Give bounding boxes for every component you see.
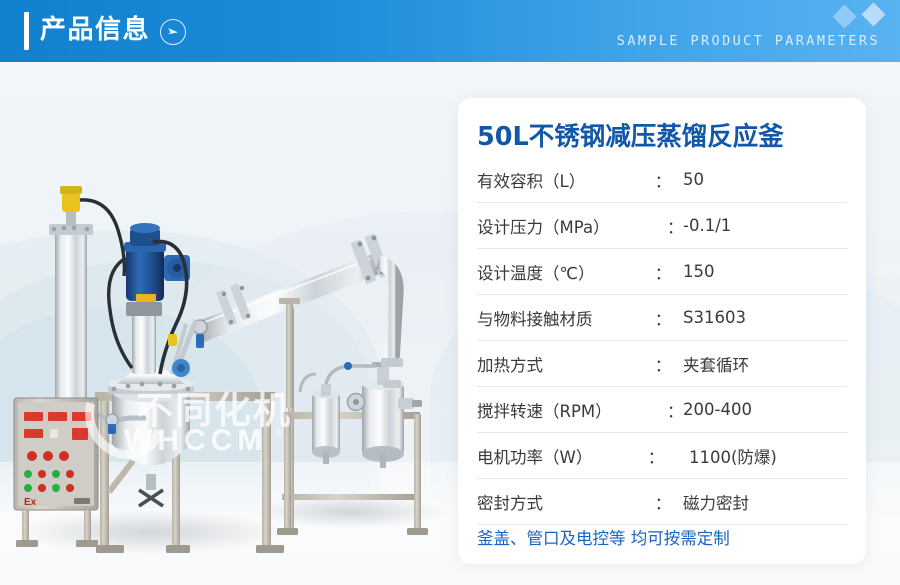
spec-table: 有效容积（L） ： 50 设计压力（MPa） ： -0.1/1 设计温度（℃） …	[477, 157, 847, 525]
diamond-decoration-right	[861, 2, 885, 26]
spec-value: 磁力密封	[675, 490, 847, 514]
table-row: 密封方式 ： 磁力密封	[477, 479, 847, 525]
spec-value: 50	[675, 170, 847, 189]
spec-colon: ：	[667, 398, 675, 422]
header-accent-bar	[24, 12, 29, 50]
spec-label: 与物料接触材质	[477, 306, 651, 330]
spec-label: 设计温度（℃）	[477, 260, 651, 284]
spec-label: 有效容积（L）	[477, 168, 651, 192]
spec-value: -0.1/1	[675, 216, 847, 235]
spec-colon: ：	[651, 490, 675, 514]
table-row: 设计温度（℃） ： 150	[477, 249, 847, 295]
table-row: 搅拌转速（RPM） ： 200-400	[477, 387, 847, 433]
spec-value: 200-400	[675, 400, 847, 419]
product-title: 50L不锈钢减压蒸馏反应釜	[477, 116, 784, 153]
reactor-equipment-illustration: Ex	[0, 62, 460, 585]
table-row: 加热方式 ： 夹套循环	[477, 341, 847, 387]
page-header: 产品信息 SAMPLE PRODUCT PARAMETERS	[0, 0, 900, 62]
table-row: 设计压力（MPa） ： -0.1/1	[477, 203, 847, 249]
table-row: 电机功率（W） ： 1100(防爆)	[477, 433, 847, 479]
spec-colon: ：	[651, 168, 675, 192]
spec-colon: ：	[651, 306, 675, 330]
spec-colon: ：	[651, 352, 675, 376]
customization-note: 釜盖、管口及电控等 均可按需定制	[477, 525, 730, 549]
spec-label: 设计压力（MPa）	[477, 214, 667, 238]
spec-label: 加热方式	[477, 352, 651, 376]
header-subtitle: SAMPLE PRODUCT PARAMETERS	[617, 33, 880, 49]
spec-colon: ：	[667, 214, 675, 238]
spec-card: 50L不锈钢减压蒸馏反应釜 有效容积（L） ： 50 设计压力（MPa） ： -…	[458, 98, 866, 564]
spec-colon: ：	[651, 260, 675, 284]
spec-value: 夹套循环	[675, 352, 847, 376]
spec-value: 1100(防爆)	[675, 444, 847, 468]
play-arrow-icon[interactable]	[160, 19, 186, 45]
spec-value: S31603	[675, 308, 847, 327]
spec-value: 150	[675, 262, 847, 281]
spec-label: 密封方式	[477, 490, 651, 514]
table-row: 有效容积（L） ： 50	[477, 157, 847, 203]
page-title: 产品信息	[40, 11, 150, 49]
diamond-decoration-left	[832, 4, 856, 28]
spec-label: 电机功率（W）	[477, 444, 637, 468]
svg-text:Ex: Ex	[24, 497, 37, 508]
spec-colon: ：	[637, 444, 675, 468]
table-row: 与物料接触材质 ： S31603	[477, 295, 847, 341]
spec-label: 搅拌转速（RPM）	[477, 398, 667, 422]
